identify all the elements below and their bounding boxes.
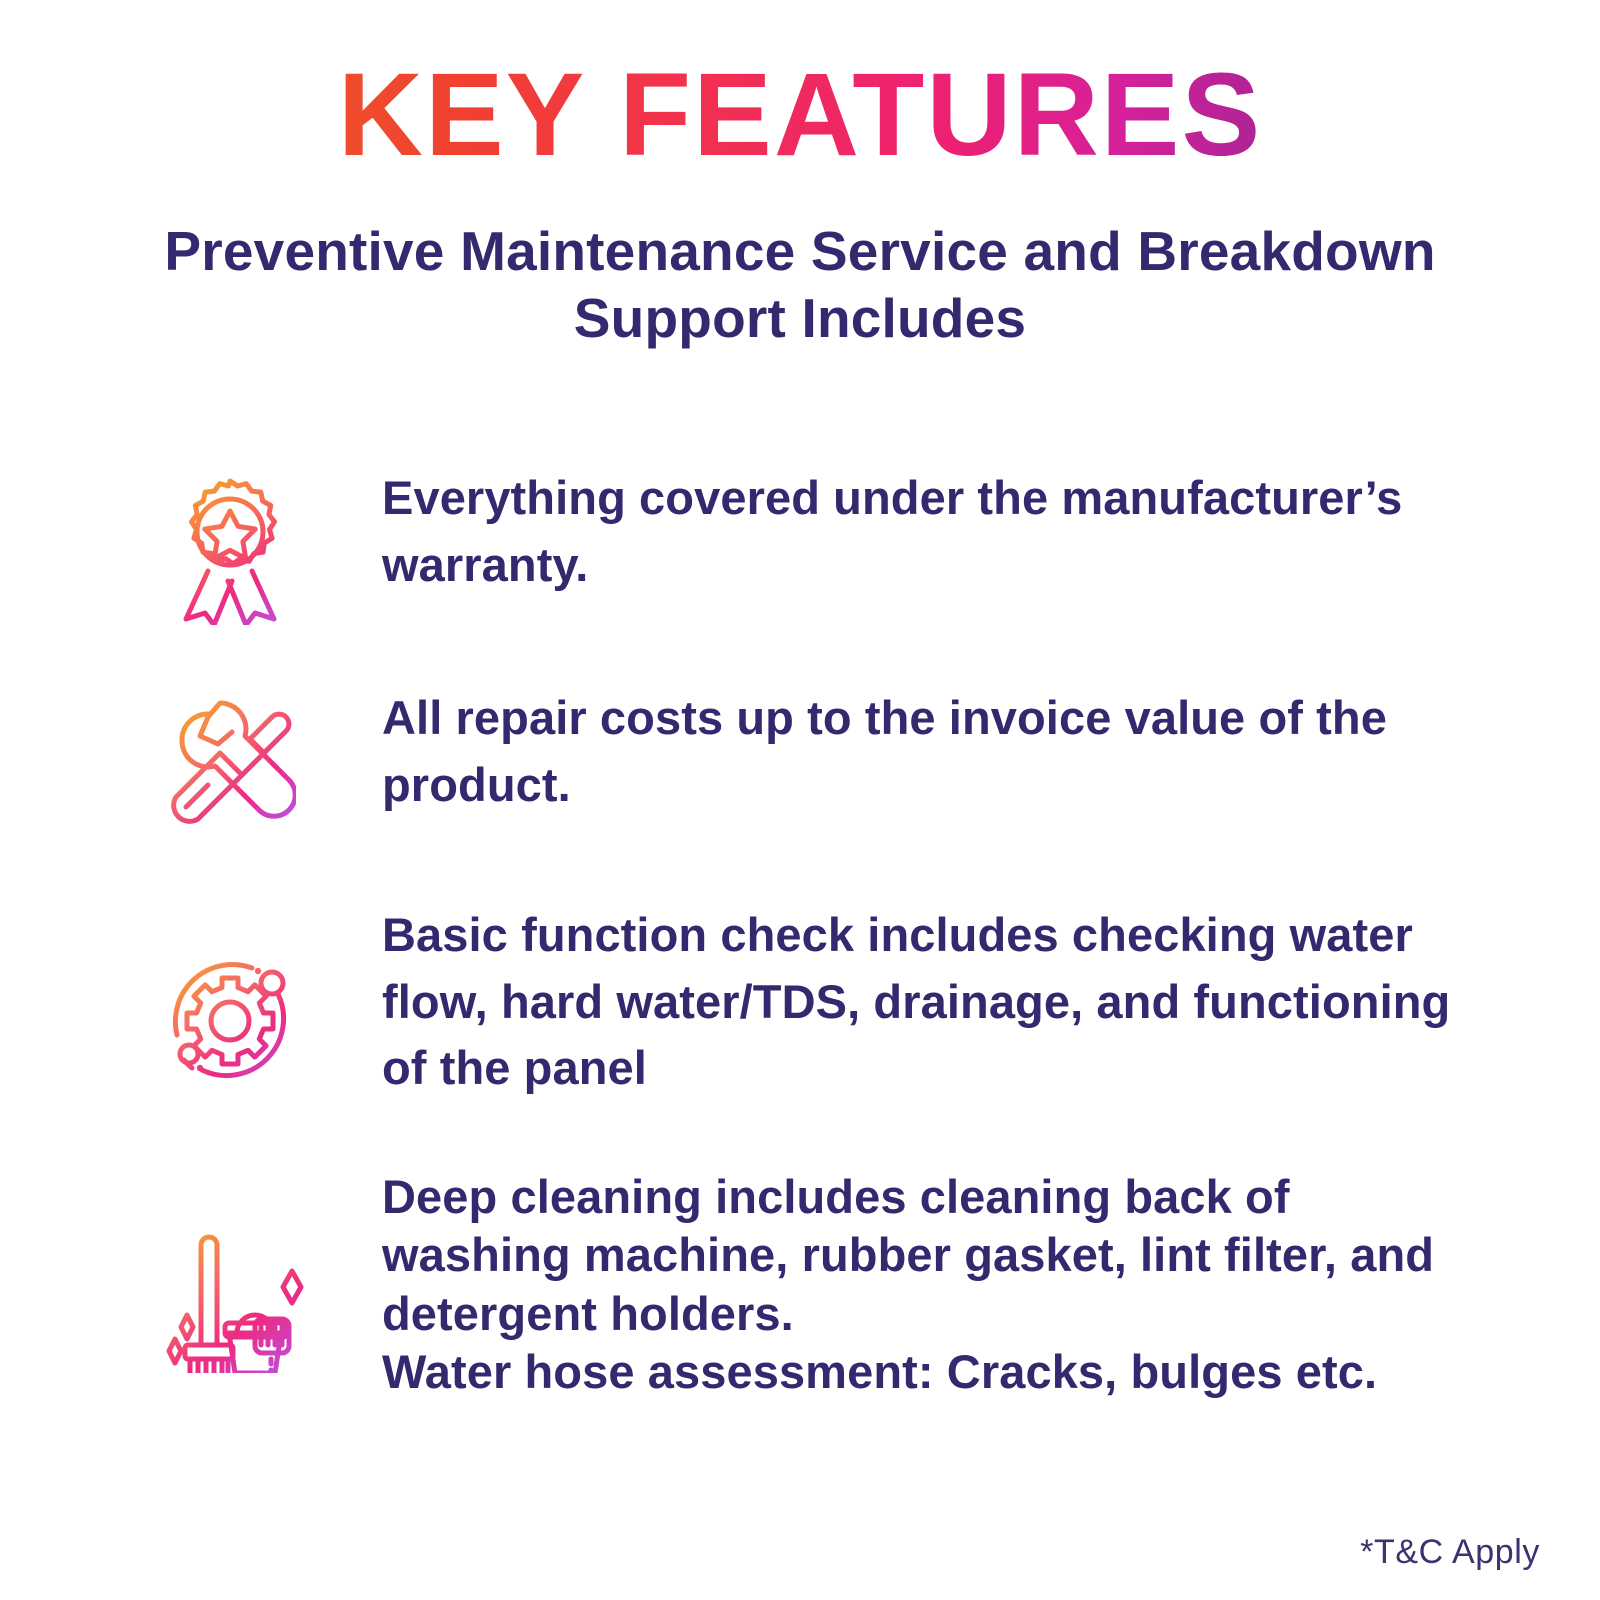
wrench-screwdriver-icon	[150, 697, 310, 829]
list-item: Basic function check includes checking w…	[0, 902, 1600, 1102]
feature-text-main: Everything covered under the manufacture…	[382, 465, 1467, 598]
list-item: Deep cleaning includes cleaning back of …	[0, 1168, 1600, 1401]
page-title: KEY FEATURES	[0, 52, 1600, 179]
feature-text: Everything covered under the manufacture…	[382, 465, 1467, 598]
list-item: All repair costs up to the invoice value…	[0, 685, 1600, 829]
feature-text-main: Deep cleaning includes cleaning back of …	[382, 1168, 1467, 1343]
feature-text-main: Basic function check includes checking w…	[382, 902, 1467, 1102]
subtitle-line-2: Support Includes	[80, 285, 1520, 352]
feature-text: All repair costs up to the invoice value…	[382, 685, 1467, 818]
feature-text: Deep cleaning includes cleaning back of …	[382, 1168, 1467, 1401]
award-badge-icon	[150, 475, 310, 625]
list-item: Everything covered under the manufacture…	[0, 465, 1600, 625]
page-subtitle: Preventive Maintenance Service and Break…	[80, 218, 1520, 352]
terms-disclaimer: *T&C Apply	[1360, 1533, 1540, 1572]
gear-settings-icon	[150, 950, 310, 1086]
subtitle-line-1: Preventive Maintenance Service and Break…	[80, 218, 1520, 285]
key-features-poster: KEY FEATURES Preventive Maintenance Serv…	[0, 0, 1600, 1600]
feature-text-main: All repair costs up to the invoice value…	[382, 685, 1467, 818]
feature-text: Basic function check includes checking w…	[382, 902, 1467, 1102]
broom-bucket-cleaning-icon	[150, 1223, 310, 1373]
feature-text-extra: Water hose assessment: Cracks, bulges et…	[382, 1343, 1467, 1401]
